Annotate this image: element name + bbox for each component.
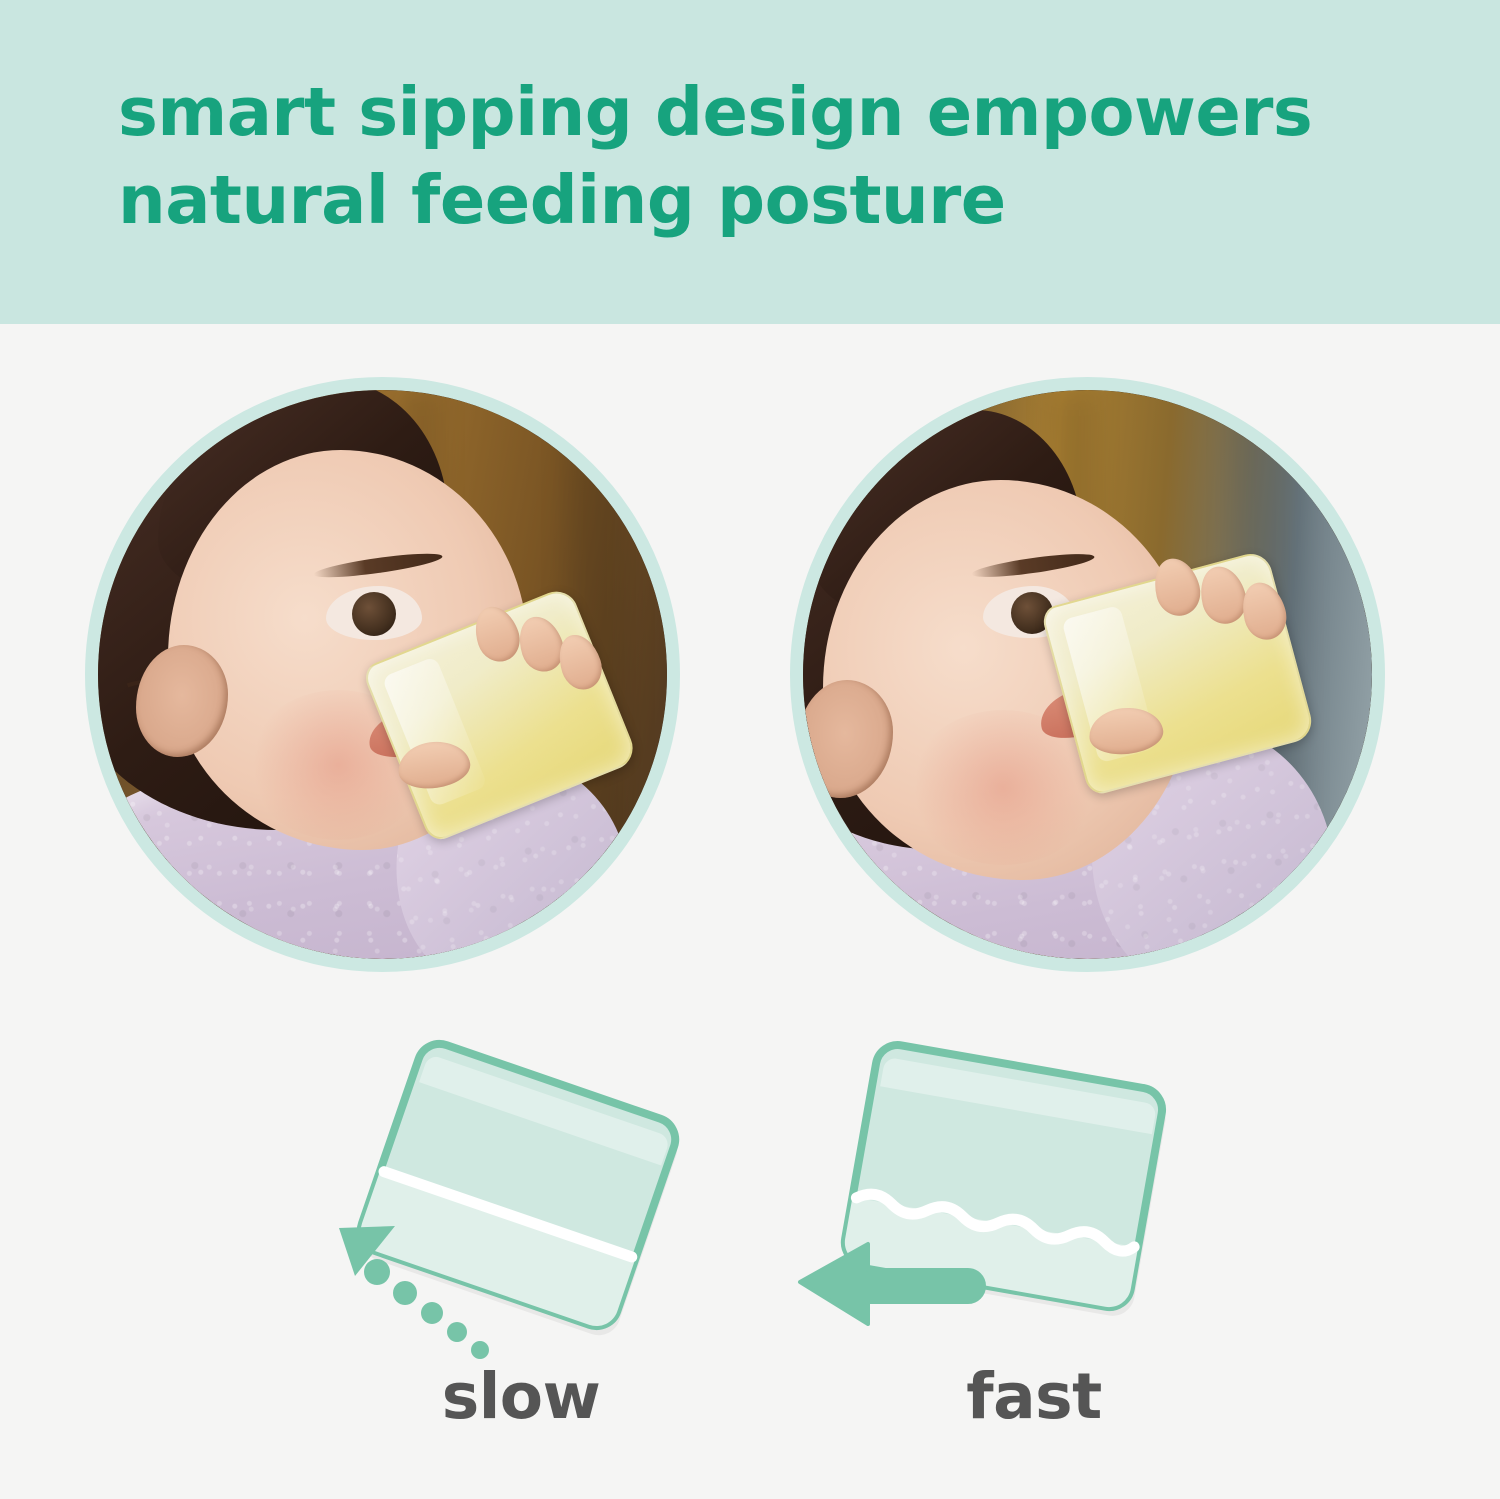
diagram-label-fast: fast [740, 1360, 1314, 1433]
diagram-label-slow: slow [235, 1360, 801, 1433]
page-title: smart sipping design empowers natural fe… [118, 68, 1418, 245]
diagram-fast: fast [740, 1030, 1300, 1450]
product-infographic-page: { "header": { "headline": "smart sipping… [0, 0, 1500, 1499]
baby-drinking-bottle-right [803, 390, 1372, 959]
diagram-row: slow fast [0, 1030, 1500, 1490]
photo-circle-left [85, 377, 680, 972]
bottle-icon-slow [235, 1030, 795, 1360]
diagram-slow: slow [235, 1030, 795, 1450]
photo-circle-right [790, 377, 1385, 972]
photo-row [0, 372, 1500, 1017]
baby-drinking-bottle-left [98, 390, 667, 959]
bottle-icon-fast [740, 1030, 1300, 1360]
header-band: smart sipping design empowers natural fe… [0, 0, 1500, 324]
